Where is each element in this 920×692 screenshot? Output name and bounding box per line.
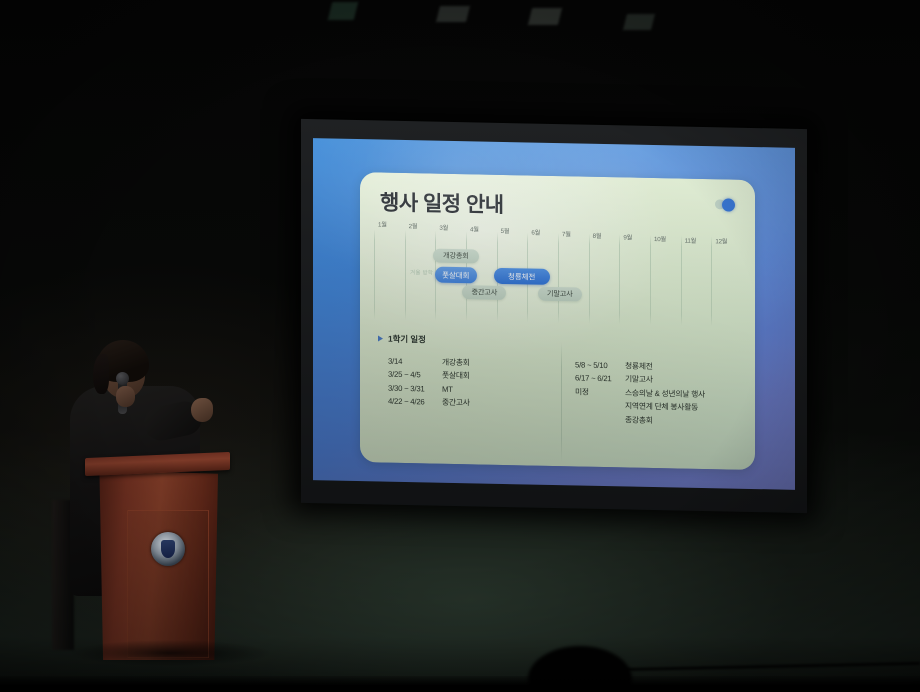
podium	[85, 455, 230, 660]
speaker-hand	[191, 398, 213, 422]
timeline-gridline	[374, 229, 375, 319]
foreground-dark-band	[0, 676, 920, 692]
timeline-month-label: 12월	[715, 237, 727, 246]
timeline-chart: 1월2월3월4월5월6월7월8월9월10월11월12월 겨울 방학 개강총회풋살…	[374, 219, 742, 326]
page-dot-active	[722, 198, 735, 211]
schedule-event-name: 종강총회	[625, 413, 740, 429]
podium-top	[85, 452, 230, 476]
timeline-month-label: 2월	[409, 221, 418, 230]
schedule-column-left: 3/14개강총회3/25 ~ 4/5풋살대회3/30 ~ 3/31MT4/22 …	[388, 355, 553, 425]
projection-screen: 행사 일정 안내 1월2월3월4월5월6월7월8월9월10월11월12월 겨울 …	[301, 119, 807, 513]
ceiling-reflection-4	[623, 14, 655, 30]
timeline-gridline	[405, 230, 406, 320]
schedule-row: 4/22 ~ 4/26중간고사	[388, 395, 553, 412]
timeline-event-pill[interactable]: 중간고사	[462, 285, 506, 300]
schedule-row: 종강총회	[575, 412, 740, 429]
timeline-gridline	[589, 234, 590, 324]
schedule-date: 5/8 ~ 5/10	[575, 358, 625, 372]
timeline-event-pill[interactable]: 풋살대회	[435, 267, 477, 284]
section-heading: 1학기 일정	[378, 332, 426, 345]
timeline-event-pill[interactable]: 청룡체전	[494, 268, 550, 285]
schedule-date: 6/17 ~ 6/21	[575, 372, 625, 386]
timeline-month-label: 9월	[623, 232, 632, 241]
vacation-label: 겨울 방학	[410, 268, 433, 276]
page-title: 행사 일정 안내	[380, 187, 504, 219]
podium-shadow	[70, 640, 270, 666]
timeline-event-pill[interactable]: 기말고사	[538, 287, 582, 302]
ceiling-reflection-3	[528, 8, 562, 25]
timeline-month-labels: 1월2월3월4월5월6월7월8월9월10월11월12월	[374, 219, 742, 226]
timeline-gridlines	[374, 219, 742, 226]
page-indicator[interactable]	[715, 198, 741, 212]
timeline-month-label: 6월	[531, 227, 540, 236]
microphone-head	[116, 372, 129, 385]
speaker-mic-hand	[116, 386, 135, 407]
presentation-slide: 행사 일정 안내 1월2월3월4월5월6월7월8월9월10월11월12월 겨울 …	[313, 138, 795, 490]
timeline-month-label: 5월	[501, 226, 510, 235]
ceiling-reflection-2	[436, 6, 470, 22]
schedule-date: 3/30 ~ 3/31	[388, 381, 442, 395]
timeline-month-label: 7월	[562, 229, 571, 238]
ceiling-reflection-1	[328, 2, 358, 20]
timeline-gridline	[681, 236, 682, 326]
schedule-date: 3/25 ~ 4/5	[388, 368, 442, 382]
timeline-month-label: 10월	[654, 234, 666, 243]
schedule-table: 3/14개강총회3/25 ~ 4/5풋살대회3/30 ~ 3/31MT4/22 …	[388, 355, 740, 429]
schedule-column-right: 5/8 ~ 5/10청룡체전6/17 ~ 6/21기말고사미정스승의날 & 성년…	[575, 358, 740, 428]
section-heading-label: 1학기 일정	[388, 333, 426, 346]
triangle-right-icon	[378, 335, 383, 341]
timeline-month-label: 4월	[470, 224, 479, 233]
university-crest-icon	[151, 532, 185, 566]
schedule-date: 3/14	[388, 355, 442, 369]
timeline-month-label: 11월	[685, 235, 697, 244]
schedule-date	[575, 399, 625, 413]
timeline-event-pills: 개강총회풋살대회청룡체전중간고사기말고사	[374, 219, 742, 226]
timeline-month-label: 8월	[593, 230, 602, 239]
timeline-month-label: 1월	[378, 219, 387, 228]
schedule-event-name: 중간고사	[442, 396, 553, 412]
timeline-month-label: 3월	[439, 223, 448, 232]
podium-body	[97, 470, 218, 660]
speaker-hair-side	[93, 354, 109, 394]
schedule-date: 미정	[575, 385, 625, 399]
schedule-date: 4/22 ~ 4/26	[388, 395, 442, 409]
slide-card: 행사 일정 안내 1월2월3월4월5월6월7월8월9월10월11월12월 겨울 …	[360, 172, 755, 470]
schedule-date	[575, 412, 625, 426]
timeline-gridline	[711, 236, 712, 326]
timeline-event-pill[interactable]: 개강총회	[433, 249, 479, 264]
auditorium-stage: 행사 일정 안내 1월2월3월4월5월6월7월8월9월10월11월12월 겨울 …	[0, 0, 920, 692]
timeline-gridline	[650, 235, 651, 325]
timeline-gridline	[558, 233, 559, 323]
timeline-gridline	[619, 234, 620, 324]
stage-edge	[620, 662, 920, 671]
